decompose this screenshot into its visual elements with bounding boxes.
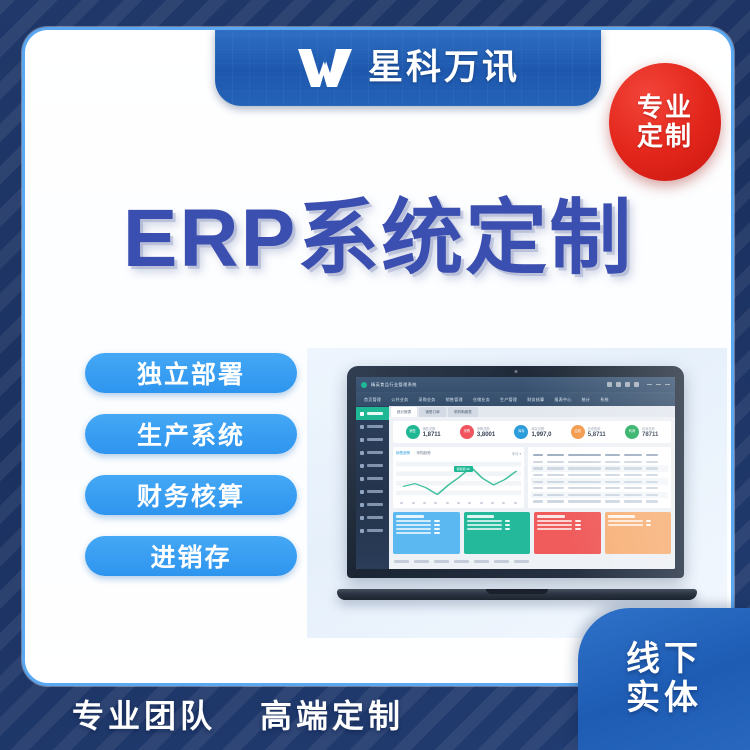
summary-card-0[interactable]: [393, 512, 460, 554]
brand-header-tab: 星科万讯: [215, 28, 601, 106]
gear-icon: [360, 477, 364, 481]
footer-link[interactable]: [514, 560, 529, 562]
feature-pill-3-label: 财务核算: [137, 477, 245, 513]
col-header-2: [568, 454, 601, 456]
footer-link[interactable]: [474, 560, 489, 562]
kpi-value-3: 5,8711: [588, 432, 606, 438]
col-header-5: [646, 454, 658, 456]
laptop-mockup: 精英食品行业管理系统: [337, 366, 697, 606]
offline-line-2: 实体: [626, 679, 702, 718]
maximize-icon[interactable]: [656, 384, 661, 385]
poster-root: 星科万讯 ERP系统定制 独立部署 生产系统 财务核算 进销存: [0, 0, 750, 750]
sidebar-item-3-label: [367, 451, 383, 454]
page-title: ERP系统定制: [25, 198, 731, 280]
x-tick: [434, 502, 437, 504]
bottom-tagline-group: 专业团队 高端定制: [72, 691, 404, 737]
feature-pill-list: 独立部署 生产系统 财务核算 进销存: [85, 353, 297, 576]
kpi-value-4: 78711: [642, 432, 658, 438]
feature-pill-1[interactable]: 独立部署: [85, 353, 297, 393]
tab-0-label: 统计报表: [397, 410, 411, 415]
x-tick: [457, 502, 460, 504]
sidebar-item-2-label: [367, 438, 383, 441]
table-row[interactable]: [531, 485, 668, 492]
table-header-row: [531, 452, 668, 459]
feature-pill-4[interactable]: 进销存: [85, 536, 297, 576]
tag-icon: [360, 451, 364, 455]
brand-name: 星科万讯: [368, 50, 520, 85]
tab-2-label: 采购明细表: [454, 410, 472, 415]
summary-card-row: [393, 512, 671, 554]
kpi-ring-2: 库存: [514, 425, 528, 439]
x-tick: [446, 502, 449, 504]
product-mockup-scene: 精英食品行业管理系统: [307, 348, 727, 638]
kpi-label-2: 库存总额: [531, 426, 551, 431]
app-menu-item-8[interactable]: 统计: [582, 397, 591, 403]
laptop-notch: [486, 589, 548, 594]
bell-icon[interactable]: [616, 382, 621, 387]
app-menu-bar: 首页管理 公共业务 采购业务 销售管理 仓储业务 生产管理 财务核算 报表中心 …: [356, 392, 675, 406]
kpi-ring-0: 销售: [406, 425, 420, 439]
kpi-ring-4: 利润: [625, 425, 639, 439]
x-tick: [400, 502, 403, 504]
window-controls: [647, 384, 670, 385]
summary-card-1[interactable]: [464, 512, 531, 554]
x-tick: [468, 502, 471, 504]
x-tick: [502, 502, 505, 504]
cart-icon: [360, 438, 364, 442]
offline-line-1: 线下: [626, 640, 702, 679]
kpi-strip: 销售 销售总额 1,8711 采购: [393, 421, 671, 443]
app-menu-item-3[interactable]: 销售管理: [446, 397, 463, 403]
badge-line-1: 专业: [637, 93, 693, 122]
webcam-icon: [514, 370, 517, 373]
tab-2[interactable]: 采购明细表: [448, 407, 478, 417]
sidebar-item-5[interactable]: [356, 472, 389, 485]
app-window-title: 精英食品行业管理系统: [371, 382, 417, 388]
x-tick: [412, 502, 415, 504]
kpi-value-1: 3,8001: [477, 432, 495, 438]
summary-card-0-title: [396, 515, 424, 518]
data-table-panel: [528, 447, 671, 508]
sidebar-item-2[interactable]: [356, 433, 389, 446]
sidebar-item-1[interactable]: [356, 420, 389, 433]
sidebar-item-4-label: [367, 464, 383, 467]
settings-icon[interactable]: [625, 382, 630, 387]
feature-pill-1-label: 独立部署: [137, 355, 245, 391]
summary-card-3-title: [608, 515, 636, 518]
app-menu-item-2[interactable]: 采购业务: [418, 397, 435, 403]
footer-link[interactable]: [494, 560, 509, 562]
grid-icon: [360, 412, 364, 416]
sidebar-item-3[interactable]: [356, 446, 389, 459]
sidebar-item-4[interactable]: [356, 459, 389, 472]
app-main-area: 统计报表 销售订单 采购明细表 销售: [389, 406, 675, 569]
laptop-screen: 精英食品行业管理系统: [356, 377, 675, 569]
kpi-card-3: 应收 应收账款 5,8711: [571, 425, 606, 439]
table-row[interactable]: [531, 498, 668, 505]
x-tick: [514, 502, 517, 504]
kpi-value-0: 1,8711: [423, 432, 441, 438]
laptop-lid: 精英食品行业管理系统: [347, 366, 684, 578]
kpi-label-1: 采购总额: [477, 426, 495, 431]
kpi-card-1: 采购 采购总额 3,8001: [460, 425, 495, 439]
bottom-tag-2: 高端定制: [260, 691, 404, 737]
app-title-bar-tools: [607, 382, 670, 387]
chart-filter-dropdown[interactable]: 本月 ▾: [512, 451, 521, 456]
sidebar-item-1-label: [367, 425, 383, 428]
kpi-card-2: 库存 库存总额 1,997,0: [514, 425, 551, 439]
col-header-1: [547, 454, 565, 456]
chart-tab-2[interactable]: 采购趋势: [416, 451, 430, 456]
data-table: [531, 452, 668, 505]
tab-0[interactable]: 统计报表: [391, 407, 417, 417]
app-menu-item-5[interactable]: 生产管理: [500, 397, 517, 403]
x-tick: [491, 502, 494, 504]
search-icon[interactable]: [607, 382, 612, 387]
chart-tooltip: 销售额 98: [454, 466, 473, 472]
footer-link[interactable]: [454, 560, 469, 562]
feature-pill-3[interactable]: 财务核算: [85, 475, 297, 515]
sidebar-item-9[interactable]: [356, 524, 389, 537]
app-title-bar: 精英食品行业管理系统: [356, 377, 675, 392]
sidebar-item-7-label: [367, 503, 383, 506]
feature-pill-2[interactable]: 生产系统: [85, 414, 297, 454]
app-menu-item-1[interactable]: 公共业务: [391, 397, 408, 403]
app-menu-item-9[interactable]: 系统: [600, 397, 609, 403]
kpi-value-2: 1,997,0: [531, 432, 551, 438]
trend-chart-panel: 销售趋势 采购趋势 本月 ▾: [393, 447, 524, 508]
feature-pill-4-label: 进销存: [150, 538, 231, 574]
dashboard-middle-row: 销售趋势 采购趋势 本月 ▾: [393, 447, 671, 508]
app-menu-item-7[interactable]: 报表中心: [554, 397, 571, 403]
close-icon[interactable]: [665, 384, 670, 385]
summary-card-2-title: [537, 515, 565, 518]
tab-1-label: 销售订单: [425, 410, 439, 415]
footer-link[interactable]: [394, 560, 409, 562]
sidebar-item-7[interactable]: [356, 498, 389, 511]
summary-card-1-title: [467, 515, 495, 518]
badge-line-2: 定制: [637, 122, 693, 151]
table-row[interactable]: [531, 465, 668, 472]
app-logo-icon: [361, 382, 367, 388]
wallet-icon: [360, 490, 364, 494]
table-row[interactable]: [531, 492, 668, 499]
status-badge: 专业 定制: [609, 63, 721, 181]
user-icon[interactable]: [634, 382, 639, 387]
kpi-label-3: 应收账款: [588, 426, 606, 431]
x-tick: [423, 502, 426, 504]
kpi-ring-3: 应收: [571, 425, 585, 439]
kpi-label-4: 利润总额: [642, 426, 658, 431]
chart-icon: [360, 503, 364, 507]
chart-tab-1[interactable]: 销售趋势: [396, 451, 410, 456]
sidebar-item-0-label: [367, 412, 383, 415]
sidebar-item-6-label: [367, 490, 383, 493]
chart-plot-area: 销售额 98: [396, 459, 521, 500]
kpi-card-0: 销售 销售总额 1,8711: [406, 425, 441, 439]
summary-card-3[interactable]: [605, 512, 672, 554]
app-menu-item-6[interactable]: 财务核算: [527, 397, 544, 403]
double-chevron-w-logo-icon: [296, 45, 354, 89]
feature-pill-2-label: 生产系统: [137, 416, 245, 452]
sidebar-item-0[interactable]: [356, 407, 389, 420]
sidebar-item-8-label: [367, 516, 383, 519]
x-tick: [480, 502, 483, 504]
kpi-card-4: 利润 利润总额 78711: [625, 425, 658, 439]
offline-store-panel: 线下 实体: [578, 608, 750, 750]
table-row[interactable]: [531, 472, 668, 479]
table-row[interactable]: [531, 459, 668, 466]
app-menu-item-4[interactable]: 仓储业务: [473, 397, 490, 403]
box-icon: [360, 464, 364, 468]
summary-card-2[interactable]: [534, 512, 601, 554]
folder-icon: [360, 425, 364, 429]
people-icon: [360, 529, 364, 533]
sidebar-item-8[interactable]: [356, 511, 389, 524]
app-content: 销售 销售总额 1,8711 采购: [389, 417, 675, 569]
sidebar-item-6[interactable]: [356, 485, 389, 498]
col-header-3: [605, 454, 620, 456]
tab-1[interactable]: 销售订单: [419, 407, 445, 417]
app-tab-bar: 统计报表 销售订单 采购明细表: [389, 406, 675, 417]
app-menu-item-0[interactable]: 首页管理: [364, 397, 381, 403]
page-title-text: ERP系统定制: [123, 198, 634, 280]
chart-x-axis: [396, 500, 521, 505]
table-row[interactable]: [531, 478, 668, 485]
col-header-4: [624, 454, 642, 456]
chart-panel-header: 销售趋势 采购趋势 本月 ▾: [396, 450, 521, 457]
laptop-base: [337, 589, 697, 600]
app-footer-links: [393, 558, 671, 565]
kpi-label-0: 销售总额: [423, 426, 441, 431]
app-sidebar: [356, 406, 389, 569]
sidebar-item-5-label: [367, 477, 383, 480]
footer-link[interactable]: [434, 560, 449, 562]
col-header-0: [533, 454, 543, 456]
footer-link[interactable]: [414, 560, 429, 562]
kpi-ring-1: 采购: [460, 425, 474, 439]
bottom-tag-1: 专业团队: [72, 691, 216, 737]
minimize-icon[interactable]: [647, 384, 652, 385]
sidebar-item-9-label: [367, 529, 383, 532]
sliders-icon: [360, 516, 364, 520]
app-body: 统计报表 销售订单 采购明细表 销售: [356, 406, 675, 569]
